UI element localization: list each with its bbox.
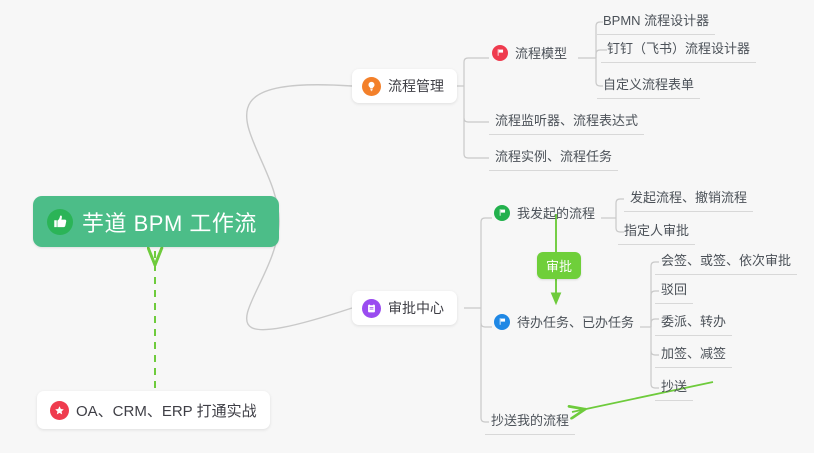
lightbulb-icon bbox=[362, 77, 381, 96]
node-label-oa-crm-erp: OA、CRM、ERP 打通实战 bbox=[76, 400, 257, 421]
branch-node-process-mgmt[interactable]: 流程管理 bbox=[352, 69, 457, 103]
flag-icon bbox=[494, 314, 510, 330]
leaf-bpmn-designer[interactable]: BPMN 流程设计器 bbox=[597, 12, 715, 35]
branch-label-approval-center: 审批中心 bbox=[388, 298, 444, 318]
node-my-started-processes[interactable]: 我发起的流程 bbox=[494, 203, 595, 222]
leaf-add-remove-sign[interactable]: 加签、减签 bbox=[655, 345, 732, 368]
approval-badge[interactable]: 审批 bbox=[537, 252, 581, 279]
thumbs-up-icon bbox=[47, 209, 73, 235]
root-label: 芋道 BPM 工作流 bbox=[82, 206, 257, 238]
flag-icon bbox=[494, 205, 510, 221]
node-label-process-model: 流程模型 bbox=[515, 43, 567, 62]
node-label-my-started-processes: 我发起的流程 bbox=[517, 203, 595, 222]
leaf-custom-process-form[interactable]: 自定义流程表单 bbox=[597, 76, 700, 99]
node-oa-crm-erp[interactable]: OA、CRM、ERP 打通实战 bbox=[37, 391, 270, 429]
leaf-dingtalk-feishu-designer[interactable]: 钉钉（飞书）流程设计器 bbox=[601, 40, 756, 63]
clipboard-icon bbox=[362, 299, 381, 318]
branch-node-approval-center[interactable]: 审批中心 bbox=[352, 291, 457, 325]
leaf-assignee-approval[interactable]: 指定人审批 bbox=[618, 222, 695, 245]
star-icon bbox=[50, 401, 69, 420]
leaf-process-instance-task[interactable]: 流程实例、流程任务 bbox=[489, 148, 618, 171]
flag-icon bbox=[492, 45, 508, 61]
branch-label-process-mgmt: 流程管理 bbox=[388, 76, 444, 96]
node-process-model[interactable]: 流程模型 bbox=[492, 43, 567, 62]
mindmap-canvas: 芋道 BPM 工作流 流程管理 审批中心 bbox=[0, 0, 814, 453]
leaf-start-cancel-process[interactable]: 发起流程、撤销流程 bbox=[624, 189, 753, 212]
leaf-process-listener-expression[interactable]: 流程监听器、流程表达式 bbox=[489, 112, 644, 135]
node-label-todo-done-tasks: 待办任务、已办任务 bbox=[517, 312, 634, 331]
leaf-delegate-transfer[interactable]: 委派、转办 bbox=[655, 313, 732, 336]
node-todo-done-tasks[interactable]: 待办任务、已办任务 bbox=[494, 312, 634, 331]
leaf-cc-to-me[interactable]: 抄送我的流程 bbox=[485, 412, 575, 435]
leaf-cc[interactable]: 抄送 bbox=[655, 378, 693, 401]
approval-badge-label: 审批 bbox=[546, 259, 572, 274]
root-node[interactable]: 芋道 BPM 工作流 bbox=[33, 196, 279, 247]
leaf-countersign-orsign-sequential[interactable]: 会签、或签、依次审批 bbox=[655, 252, 797, 275]
leaf-reject[interactable]: 驳回 bbox=[655, 281, 693, 304]
